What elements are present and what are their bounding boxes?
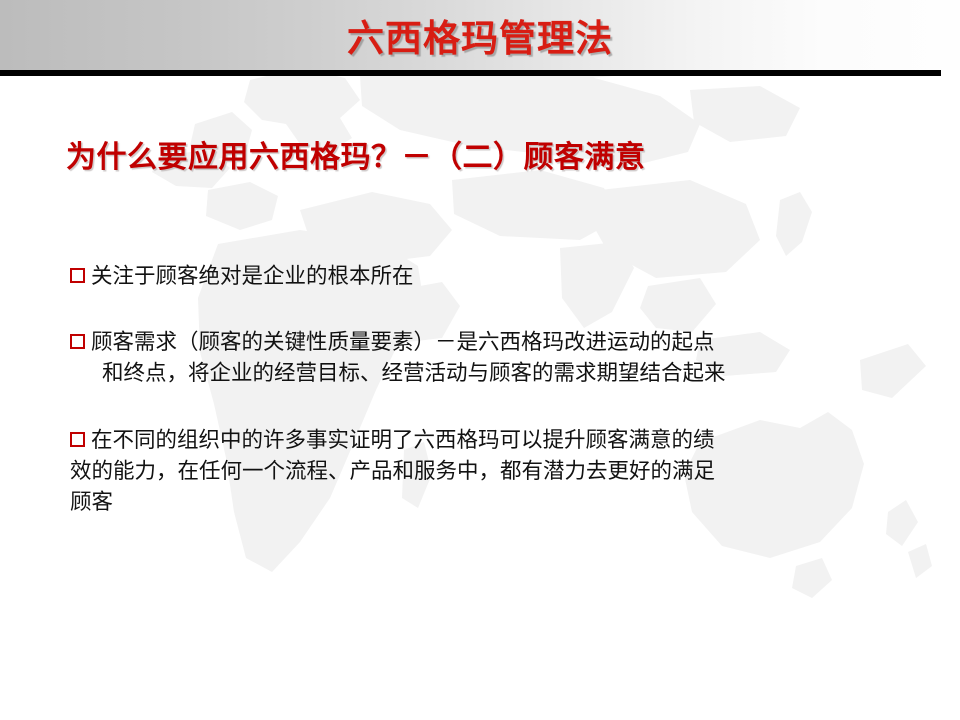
bullet-line: 顾客需求（顾客的关键性质量要素）－是六西格玛改进运动的起点 (70, 328, 900, 359)
hollow-square-bullet-icon (70, 268, 85, 283)
bullet-line: 效的能力，在任何一个流程、产品和服务中，都有潜力去更好的满足 (70, 457, 900, 488)
hollow-square-bullet-icon (70, 334, 85, 349)
hollow-square-bullet-icon (70, 432, 85, 447)
bullet-line-text: 和终点，将企业的经营目标、经营活动与顾客的需求期望结合起来 (102, 361, 726, 386)
bullet-item-2: 顾客需求（顾客的关键性质量要素）－是六西格玛改进运动的起点 和终点，将企业的经营… (70, 328, 900, 390)
bullet-line-text: 顾客需求（顾客的关键性质量要素）－是六西格玛改进运动的起点 (91, 330, 715, 355)
bullet-line-text: 效的能力，在任何一个流程、产品和服务中，都有潜力去更好的满足 (70, 459, 715, 484)
bullet-line-text: 顾客 (70, 490, 113, 515)
bullet-line-text: 关注于顾客绝对是企业的根本所在 (91, 264, 414, 289)
section-heading: 为什么要应用六西格玛？－（二）顾客满意 (66, 132, 646, 176)
bullet-line: 在不同的组织中的许多事实证明了六西格玛可以提升顾客满意的绩 (70, 426, 900, 457)
bullet-line: 和终点，将企业的经营目标、经营活动与顾客的需求期望结合起来 (70, 359, 900, 390)
bullet-line: 顾客 (70, 488, 900, 519)
header-divider (0, 70, 941, 76)
bullet-line: 关注于顾客绝对是企业的根本所在 (70, 262, 900, 293)
slide-content: 为什么要应用六西格玛？－（二）顾客满意 关注于顾客绝对是企业的根本所在 顾客需求… (0, 76, 960, 720)
bullet-item-3: 在不同的组织中的许多事实证明了六西格玛可以提升顾客满意的绩 效的能力，在任何一个… (70, 426, 900, 518)
slide-canvas: 六西格玛管理法 为什么要应用六西格玛？－（二）顾客满意 关注于顾客绝对是企业的根… (0, 0, 960, 720)
bullet-line-text: 在不同的组织中的许多事实证明了六西格玛可以提升顾客满意的绩 (91, 428, 715, 453)
page-title: 六西格玛管理法 (0, 0, 960, 70)
bullet-item-1: 关注于顾客绝对是企业的根本所在 (70, 262, 900, 293)
